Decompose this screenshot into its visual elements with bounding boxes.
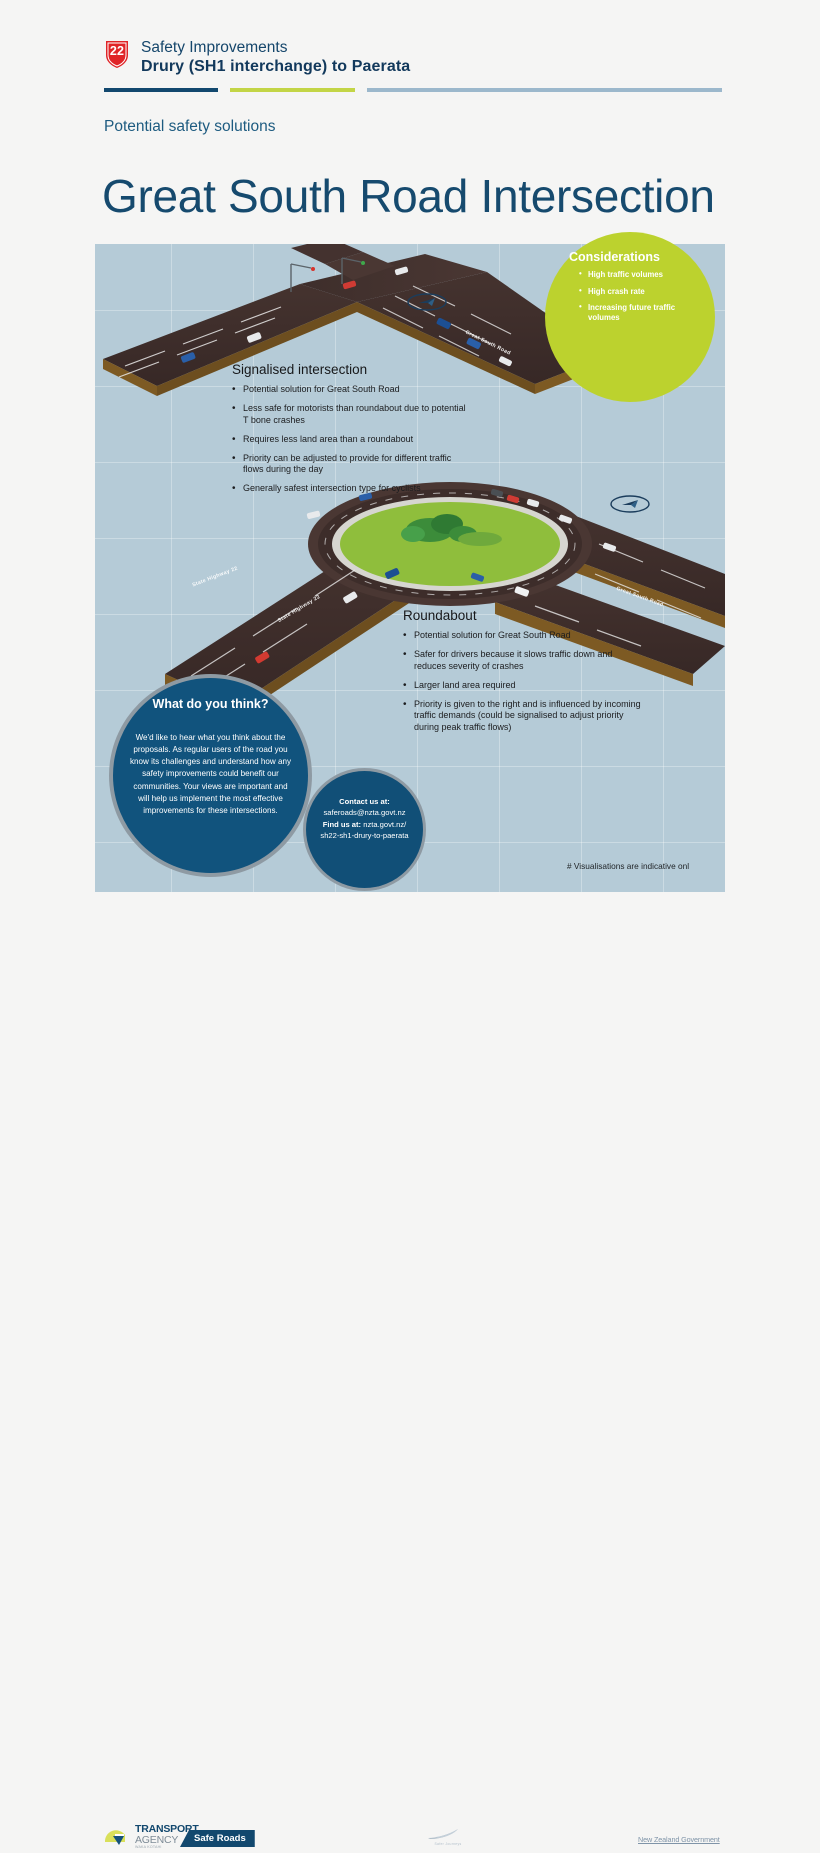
shield-number: 22 <box>104 44 130 58</box>
feedback-callout: What do you think? We'd like to hear wha… <box>113 678 308 873</box>
feedback-heading: What do you think? <box>113 696 308 713</box>
list-item: Potential solution for Great South Road <box>232 384 468 396</box>
list-item: Priority is given to the right and is in… <box>403 699 641 735</box>
signalised-list: Potential solution for Great South Road … <box>232 384 468 495</box>
considerations-heading: Considerations <box>569 250 660 264</box>
find-us-label: Find us at: <box>323 820 361 829</box>
page-title: Great South Road Intersection <box>102 171 715 222</box>
roundabout-heading: Roundabout <box>403 608 641 623</box>
contact-email[interactable]: saferoads@nzta.govt.nz <box>323 808 405 817</box>
list-item: High crash rate <box>579 287 695 297</box>
list-item: Larger land area required <box>403 680 641 692</box>
safer-journeys-caption: Safer Journeys <box>424 1842 472 1846</box>
feedback-body: We'd like to hear what you think about t… <box>127 732 294 817</box>
safe-roads-badge: Safe Roads <box>180 1830 255 1847</box>
list-item: Priority can be adjusted to provide for … <box>232 453 468 477</box>
considerations-list: High traffic volumes High crash rate Inc… <box>579 270 695 330</box>
poster-page: 22 Safety Improvements Drury (SH1 interc… <box>0 0 820 981</box>
nz-government-logo: New Zealand Government <box>638 1835 720 1844</box>
list-item: Generally safest intersection type for c… <box>232 483 468 495</box>
contact-url-line2[interactable]: sh22-sh1-drury-to-paerata <box>320 831 408 840</box>
contact-callout: Contact us at: saferoads@nzta.govt.nz Fi… <box>306 771 423 888</box>
contact-url-line1[interactable]: nzta.govt.nz/ <box>363 820 406 829</box>
safer-journeys-logo: Safer Journeys <box>424 1826 472 1852</box>
compass-north-icon-2 <box>610 494 650 514</box>
roundabout-block: Roundabout Potential solution for Great … <box>403 608 641 741</box>
list-item: Potential solution for Great South Road <box>403 630 641 642</box>
rule-blue <box>104 88 218 92</box>
state-highway-shield-icon: 22 <box>104 39 130 69</box>
considerations-callout: Considerations High traffic volumes High… <box>545 232 715 402</box>
list-item: High traffic volumes <box>579 270 695 280</box>
header-project-name: Drury (SH1 interchange) to Paerata <box>141 57 410 77</box>
list-item: Safer for drivers because it slows traff… <box>403 649 641 673</box>
list-item: Requires less land area than a roundabou… <box>232 434 468 446</box>
header-rule-group <box>104 88 722 92</box>
page-kicker: Potential safety solutions <box>104 118 275 136</box>
rule-green <box>230 88 355 92</box>
header-subtitle: Safety Improvements <box>141 38 410 57</box>
disclaimer-note: # Visualisations are indicative onl <box>567 861 689 871</box>
page-header: 22 Safety Improvements Drury (SH1 interc… <box>104 38 720 77</box>
signalised-intersection-block: Signalised intersection Potential soluti… <box>232 362 468 502</box>
roundabout-list: Potential solution for Great South Road … <box>403 630 641 734</box>
compass-north-icon <box>407 292 447 312</box>
list-item: Increasing future traffic volumes <box>579 303 695 322</box>
nzta-koru-icon <box>103 1826 129 1848</box>
list-item: Less safe for motorists than roundabout … <box>232 403 468 427</box>
page-footer: TRANSPORT AGENCY WAKA KOTAHI Safe Roads … <box>0 905 820 981</box>
signalised-heading: Signalised intersection <box>232 362 468 377</box>
contact-label: Contact us at: <box>339 797 390 806</box>
rule-lightblue <box>367 88 722 92</box>
